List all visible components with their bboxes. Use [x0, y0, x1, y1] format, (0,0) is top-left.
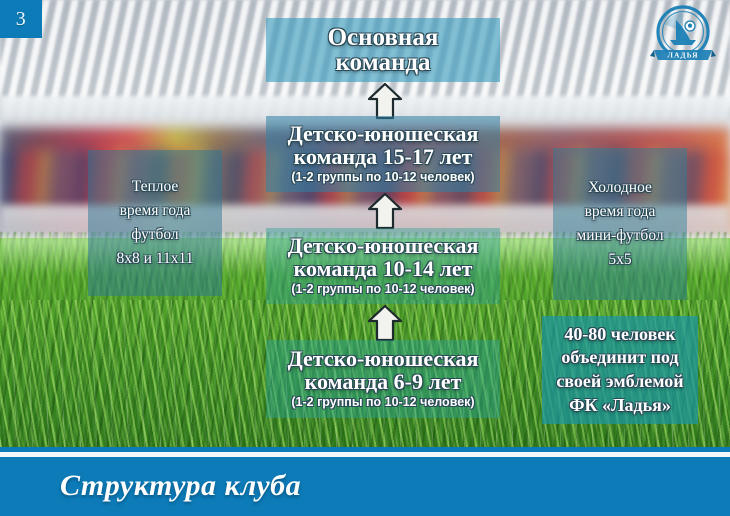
- footer-banner: Структура клуба: [0, 447, 730, 516]
- box-youth-15-17-note: (1-2 группы по 10-12 человек): [291, 171, 474, 185]
- box-youth-15-17[interactable]: Детско-юношеская команда 15-17 лет (1-2 …: [266, 116, 500, 192]
- page-number-label: 3: [16, 8, 27, 31]
- up-arrow-icon-2: [365, 192, 405, 230]
- box-youth-6-9[interactable]: Детско-юношеская команда 6-9 лет (1-2 гр…: [266, 340, 500, 418]
- box-youth-10-14-note: (1-2 группы по 10-12 человек): [291, 283, 474, 297]
- slide-root: 3 ФУТБОЛЬНЫЙ КЛУБ ЛАДЬЯ Основная ком: [0, 0, 730, 516]
- footer-white-stripe: [0, 452, 730, 457]
- box-youth-10-14-line2: команда 10-14 лет: [294, 258, 473, 280]
- box-union-summary-line1: 40-80 человек: [564, 323, 675, 347]
- box-cold-season[interactable]: Холодное время года мини-футбол 5х5: [553, 148, 687, 300]
- box-cold-season-line1: Холодное: [588, 176, 652, 200]
- box-youth-6-9-note: (1-2 группы по 10-12 человек): [291, 396, 474, 410]
- box-warm-season-line2: время года: [120, 199, 191, 223]
- box-youth-6-9-line2: команда 6-9 лет: [305, 371, 462, 393]
- box-union-summary[interactable]: 40-80 человек объединит под своей эмблем…: [542, 316, 698, 424]
- page-number-badge: 3: [0, 0, 42, 38]
- box-warm-season[interactable]: Теплое время года футбол 8х8 и 11х11: [88, 150, 222, 296]
- box-youth-15-17-line1: Детско-юношеская: [288, 123, 479, 145]
- box-youth-6-9-line1: Детско-юношеская: [288, 348, 479, 370]
- slide-title: Структура клуба: [60, 469, 301, 503]
- box-cold-season-line2: время года: [585, 200, 656, 224]
- box-warm-season-line1: Теплое: [132, 175, 179, 199]
- box-main-team-line2: команда: [335, 50, 430, 76]
- box-union-summary-line4: ФК «Ладья»: [569, 394, 671, 418]
- box-cold-season-line4: 5х5: [608, 248, 631, 272]
- box-union-summary-line3: своей эмблемой: [556, 370, 683, 394]
- box-youth-10-14-line1: Детско-юношеская: [288, 235, 479, 257]
- box-main-team-line1: Основная: [328, 25, 439, 51]
- svg-text:ЛАДЬЯ: ЛАДЬЯ: [667, 51, 698, 60]
- box-warm-season-line3: футбол: [131, 223, 178, 247]
- box-warm-season-line4: 8х8 и 11х11: [117, 247, 194, 271]
- box-union-summary-line2: объединит под: [561, 346, 678, 370]
- fc-ladya-logo-icon: ФУТБОЛЬНЫЙ КЛУБ ЛАДЬЯ: [646, 4, 720, 66]
- up-arrow-icon-1: [365, 82, 405, 120]
- box-youth-10-14[interactable]: Детско-юношеская команда 10-14 лет (1-2 …: [266, 228, 500, 304]
- box-main-team[interactable]: Основная команда: [266, 18, 500, 82]
- box-youth-15-17-line2: команда 15-17 лет: [294, 146, 473, 168]
- up-arrow-icon-3: [365, 304, 405, 342]
- box-cold-season-line3: мини-футбол: [576, 224, 663, 248]
